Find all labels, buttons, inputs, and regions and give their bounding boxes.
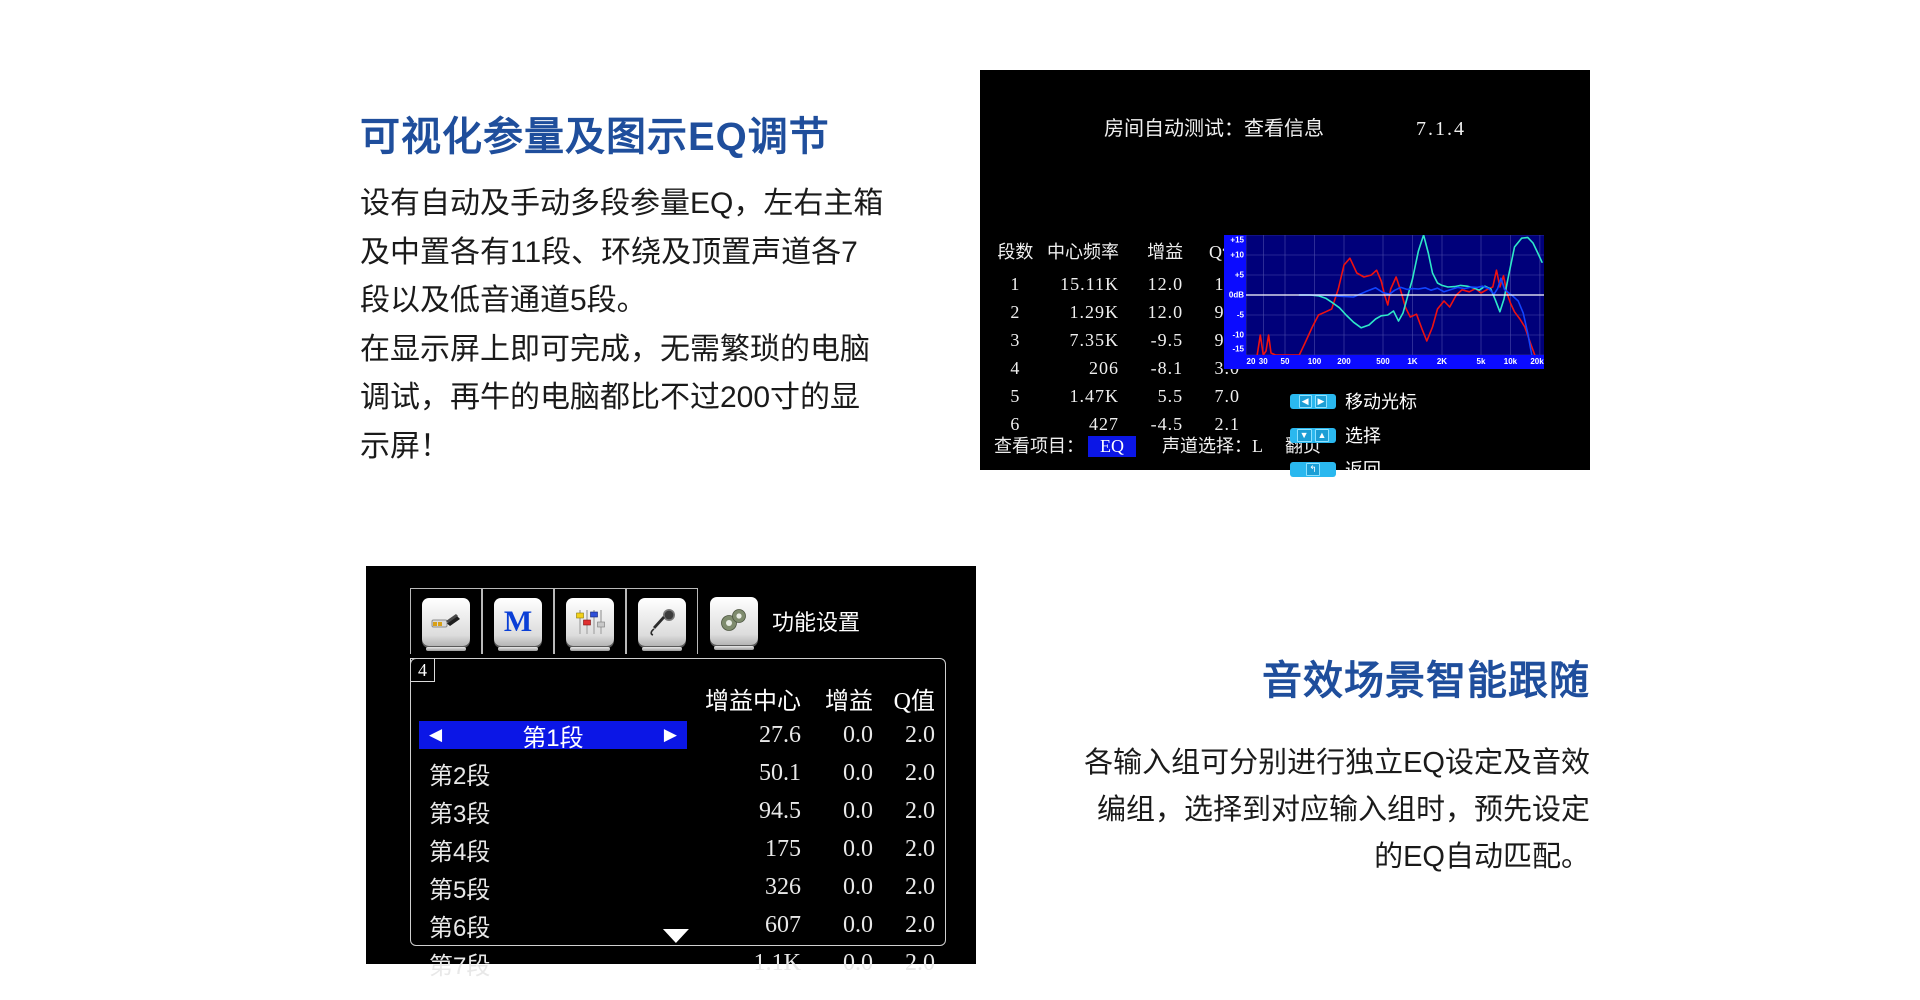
top-paragraph-line: 在显示屏上即可完成，无需繁琐的电脑 [360,326,930,375]
chart-plot-area [1246,235,1544,355]
bottom-paragraph-line: 编组，选择到对应输入组时，预先设定 [1010,787,1590,834]
cell-band: 2 [994,298,1037,326]
band-name-wrap: 第2段 [419,756,687,791]
cell-gain: -9.5 [1125,326,1191,354]
cell-band: 1 [994,270,1037,298]
chart-x-tick: 2K [1437,357,1447,366]
cell-freq: 1.47K [1037,382,1125,410]
return-key-icon: ↰ [1290,462,1336,477]
series-target-cyan [1299,235,1542,328]
tab-m-source[interactable]: M [482,588,554,654]
col-header-gain: 增益 [801,681,873,716]
hint-return: ↰ 返回 [1290,456,1417,482]
band-gain: 0.0 [801,836,873,863]
band-label: 第1段 [522,718,583,753]
cell-freq: 206 [1037,354,1125,382]
table-row: 5 1.47K 5.5 7.0 [994,382,1244,410]
col-header-gain-center: 增益中心 [687,681,801,716]
cell-band: 3 [994,326,1037,354]
table-row: 1 15.11K 12.0 1.6 [994,270,1244,298]
eq-settings-screen: M [366,566,976,964]
top-paragraph: 设有自动及手动多段参量EQ，左右主箱 及中置各有11段、环绕及顶置声道各7 段以… [360,180,930,472]
cell-freq: 7.35K [1037,326,1125,354]
col-header-band: 段数 [994,238,1037,270]
arrow-left-icon: ◀ [1299,395,1312,408]
table-row: 3 7.35K -9.5 9.0 [994,326,1244,354]
arrow-left-right-keys-icon: ◀ ▶ [1290,394,1336,409]
arrow-up-down-keys-icon: ▼ ▲ [1290,428,1336,443]
band-gain: 0.0 [801,722,873,749]
cell-gain: 12.0 [1125,270,1191,298]
bottom-text-block: 音效场景智能跟随 各输入组可分别进行独立EQ设定及音效 编组，选择到对应输入组时… [1010,648,1590,881]
scroll-down-caret-icon[interactable] [663,929,689,943]
bottom-heading: 音效场景智能跟随 [1010,648,1590,706]
view-item-value[interactable]: EQ [1088,436,1136,457]
band-q: 2.0 [873,836,935,863]
band-q: 2.0 [873,950,935,977]
chart-x-tick: 5k [1477,357,1486,366]
hint-select: ▼ ▲ 选择 [1290,422,1417,448]
hdmi-cable-icon [422,598,470,646]
top-paragraph-line: 段以及低音通道5段。 [360,277,930,326]
tab-bar: M [410,588,946,654]
chart-y-tick: -10 [1232,331,1244,340]
tab-microphone[interactable] [626,588,698,654]
top-text-block: 可视化参量及图示EQ调节 设有自动及手动多段参量EQ，左右主箱 及中置各有11段… [360,104,930,472]
tab-mixer[interactable] [554,588,626,654]
tab-label-function-settings: 功能设置 [772,605,860,637]
frequency-response-chart: +15+10+50dB-5-10-15 2030501002005001K2K5… [1224,235,1544,369]
chart-x-tick: 20 [1247,357,1256,366]
cell-freq: 15.11K [1037,270,1125,298]
channel-format-version: 7.1.4 [1416,118,1466,141]
band-center: 94.5 [687,798,801,825]
band-center: 175 [687,836,801,863]
top-paragraph-line: 及中置各有11段、环绕及顶置声道各7 [360,229,930,278]
list-item[interactable]: 第5段 326 0.0 2.0 [419,873,935,901]
return-arrow-icon: ↰ [1306,463,1320,476]
band-center: 50.1 [687,760,801,787]
cell-band: 4 [994,354,1037,382]
band-label: 第3段 [429,794,490,829]
list-item[interactable]: 第2段 50.1 0.0 2.0 [419,759,935,787]
band-q: 2.0 [873,874,935,901]
band-name-wrap: 第5段 [419,870,687,905]
band-q: 2.0 [873,760,935,787]
chart-y-tick: -15 [1232,345,1244,354]
col-header-q: Q值 [873,681,935,716]
cell-gain: 12.0 [1125,298,1191,326]
top-heading: 可视化参量及图示EQ调节 [360,104,930,162]
screen-title-row: 房间自动测试：查看信息7.1.4 [980,112,1590,141]
arrow-up-icon: ▲ [1315,429,1330,442]
band-center: 27.6 [687,722,801,749]
band-name-wrap: 第7段 [419,946,687,981]
band-center: 1.1K [687,950,801,977]
cell-gain: 5.5 [1125,382,1191,410]
band-gain: 0.0 [801,874,873,901]
list-item[interactable]: 第7段 1.1K 0.0 2.0 [419,949,935,977]
gear-settings-icon [710,597,758,645]
band-name-wrap: 第3段 [419,794,687,829]
chart-x-tick: 1K [1407,357,1417,366]
band-label: 第5段 [429,870,490,905]
chart-y-axis: +15+10+50dB-5-10-15 [1224,235,1246,369]
band-label: 第6段 [429,908,490,943]
band-label: 第2段 [429,756,490,791]
hint-label: 移动光标 [1345,388,1417,414]
screen-title: 房间自动测试：查看信息 [1104,118,1324,140]
chart-x-tick: 200 [1337,357,1350,366]
channel-value[interactable]: L [1252,436,1263,456]
chart-x-tick: 30 [1259,357,1268,366]
bottom-paragraph-line: 各输入组可分别进行独立EQ设定及音效 [1010,740,1590,787]
key-hint-legend: ◀ ▶ 移动光标 ▼ ▲ 选择 ↰ 返回 [1290,388,1417,490]
bottom-paragraph: 各输入组可分别进行独立EQ设定及音效 编组，选择到对应输入组时，预先设定 的EQ… [1010,740,1590,881]
microphone-icon [638,598,686,646]
chart-y-tick: -5 [1237,311,1244,320]
chart-y-tick: +5 [1235,271,1244,280]
table-header-row: 段数 中心频率 增益 Q值 [994,238,1244,270]
table-row: 4 206 -8.1 3.0 [994,354,1244,382]
m-logo-icon: M [494,598,542,646]
hint-move-cursor: ◀ ▶ 移动光标 [1290,388,1417,414]
chart-y-tick: 0dB [1229,291,1244,300]
list-item[interactable]: 第4段 175 0.0 2.0 [419,835,935,863]
eq-band-list-panel: 增益中心 增益 Q值 ◀ 第1段 ▶ 27.6 0.0 2.0 第2段 50.1 [410,658,946,946]
chart-x-axis: 2030501002005001K2K5k10k20k [1224,355,1544,369]
list-item[interactable]: ◀ 第1段 ▶ 27.6 0.0 2.0 [419,721,935,749]
arrow-down-icon: ▼ [1297,429,1312,442]
chart-x-tick: 50 [1281,357,1290,366]
arrow-right-icon: ▶ [1315,395,1328,408]
band-name-wrap: 第4段 [419,832,687,867]
eq-parameter-table: 段数 中心频率 增益 Q值 1 15.11K 12.0 1.6 2 1.29K … [994,238,1244,438]
room-test-screen: 房间自动测试：查看信息7.1.4 段数 中心频率 增益 Q值 1 15.11K … [980,70,1590,470]
top-paragraph-line: 调试，再牛的电脑都比不过200寸的显 [360,374,930,423]
cell-q: 7.0 [1191,382,1244,410]
tab-function-settings[interactable]: 功能设置 [698,588,946,654]
band-gain: 0.0 [801,950,873,977]
band-name-wrap: ◀ 第1段 ▶ [419,721,687,749]
chart-svg [1246,235,1544,355]
band-q: 2.0 [873,912,935,939]
chart-y-tick: +15 [1230,236,1244,245]
chart-x-tick: 10k [1504,357,1517,366]
band-center: 326 [687,874,801,901]
band-label: 第4段 [429,832,490,867]
list-column-headers: 增益中心 增益 Q值 [687,681,935,716]
list-item[interactable]: 第3段 94.5 0.0 2.0 [419,797,935,825]
table-row: 2 1.29K 12.0 9.0 [994,298,1244,326]
arrow-left-icon[interactable]: ◀ [429,725,442,745]
chart-x-tick: 500 [1376,357,1389,366]
band-q: 2.0 [873,722,935,749]
band-gain: 0.0 [801,912,873,939]
channel-label: 声道选择： [1162,436,1252,456]
col-header-center-freq: 中心频率 [1037,238,1125,270]
top-paragraph-line: 设有自动及手动多段参量EQ，左右主箱 [360,180,930,229]
band-gain: 0.0 [801,760,873,787]
view-item-label: 查看项目： [994,436,1084,456]
band-center: 607 [687,912,801,939]
arrow-right-icon[interactable]: ▶ [664,725,677,745]
bottom-paragraph-line: 的EQ自动匹配。 [1010,834,1590,881]
band-q: 2.0 [873,798,935,825]
hint-label: 返回 [1345,456,1381,482]
screen-footer: 查看项目：EQ声道选择：L翻页 [994,432,1321,458]
tab-hdmi-input[interactable] [410,588,482,654]
mixer-faders-icon [566,598,614,646]
series-measured-red [1257,258,1535,355]
hint-label: 选择 [1345,422,1381,448]
top-paragraph-line: 示屏！ [360,423,930,472]
chart-y-tick: +10 [1230,251,1244,260]
col-header-gain: 增益 [1125,238,1191,270]
band-label: 第7段 [429,946,490,981]
band-gain: 0.0 [801,798,873,825]
chart-x-tick: 20k [1530,357,1543,366]
cell-band: 5 [994,382,1037,410]
series-corrected-blue [1299,278,1532,355]
cell-gain: -8.1 [1125,354,1191,382]
band-name-wrap: 第6段 [419,908,687,943]
cell-freq: 1.29K [1037,298,1125,326]
chart-x-tick: 100 [1308,357,1321,366]
